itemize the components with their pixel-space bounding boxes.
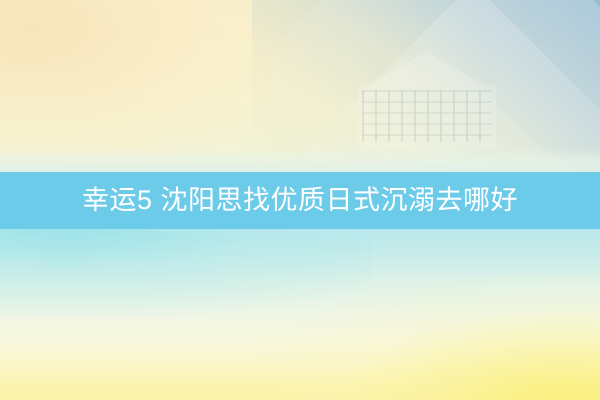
- sky-gradient: [0, 228, 600, 400]
- sky-yellow-glow: [252, 276, 600, 400]
- banner-title-text: 幸运5 沈阳思找优质日式沉溺去哪好: [82, 187, 518, 214]
- pre-banner-wash: [0, 148, 600, 172]
- promo-image-canvas: 幸运5 沈阳思找优质日式沉溺去哪好: [0, 0, 600, 400]
- ghost-building-roof: [366, 52, 486, 86]
- ghost-building-icon: [352, 52, 502, 150]
- ghost-building-window-grid: [362, 90, 492, 142]
- title-banner: 幸运5 沈阳思找优质日式沉溺去哪好: [0, 172, 600, 229]
